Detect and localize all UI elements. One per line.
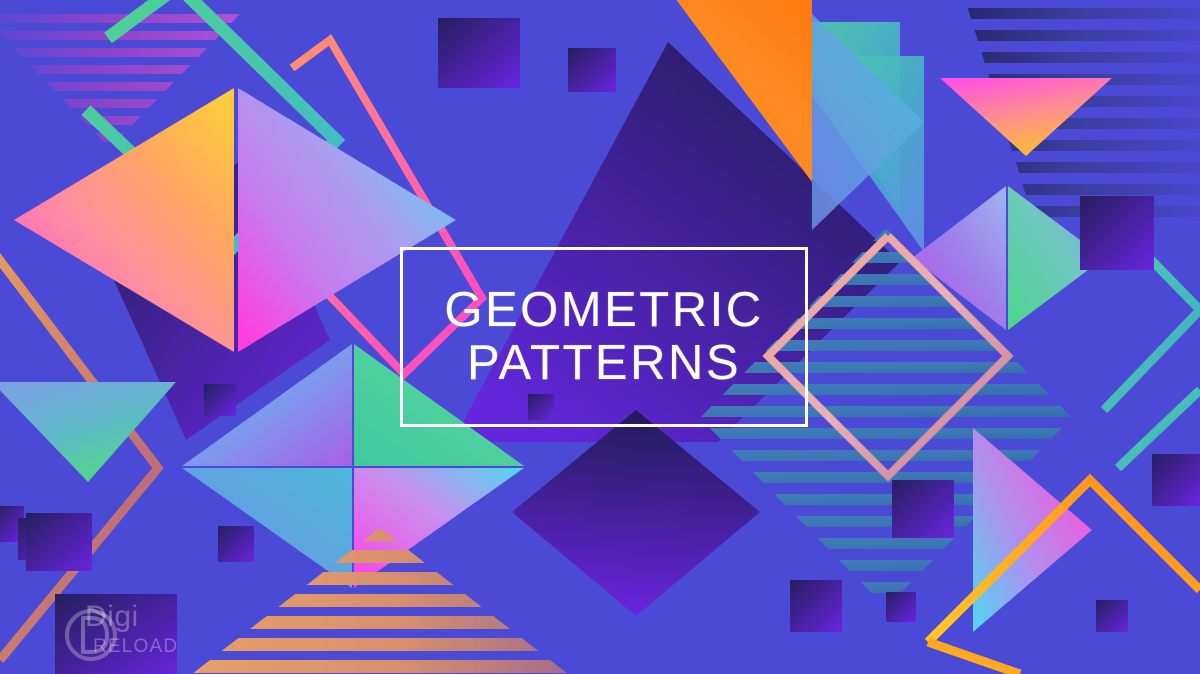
small-square-12 <box>1096 600 1128 632</box>
page-title-line-1: GEOMETRIC <box>444 285 763 336</box>
small-square-21 <box>1152 454 1200 506</box>
small-square-11 <box>886 592 916 622</box>
cyan-pink-triangle-bottom-right <box>973 428 1092 632</box>
quad-diamond-q3 <box>182 468 352 588</box>
orange-diamond-outline-bottom-right-b <box>928 642 1020 674</box>
blue-green-triangle-left <box>0 382 176 482</box>
small-square-13 <box>790 580 842 632</box>
poster-canvas: GEOMETRIC PATTERNS Digi RELOAD <box>0 0 1200 674</box>
small-square-9 <box>218 526 254 562</box>
page-title-line-2: PATTERNS <box>467 338 741 389</box>
small-square-4 <box>1080 196 1154 270</box>
small-square-14 <box>892 480 954 538</box>
small-square-20 <box>55 594 177 674</box>
title-frame: GEOMETRIC PATTERNS <box>400 247 808 427</box>
small-square-19 <box>26 513 92 571</box>
small-square-1 <box>438 18 520 88</box>
small-square-2 <box>568 48 616 92</box>
small-square-5 <box>204 384 236 416</box>
